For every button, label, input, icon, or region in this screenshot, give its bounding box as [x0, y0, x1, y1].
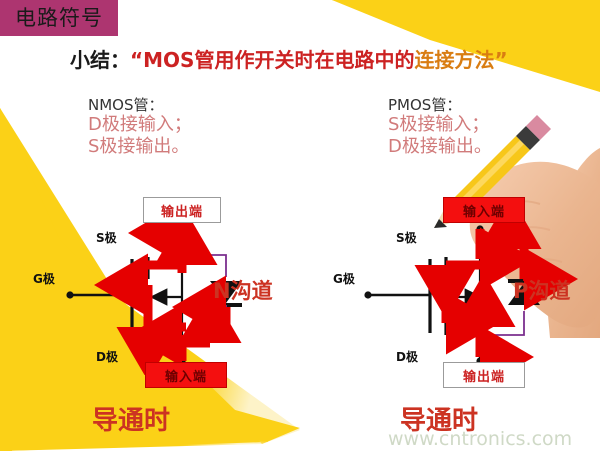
page-title-orange-part: 连接方法	[414, 48, 494, 72]
nmos-source-label: S极	[96, 229, 117, 246]
nmos-input-box: 输入端	[145, 362, 227, 388]
site-watermark: www.cntronics.com	[388, 428, 572, 450]
gate-terminal-dot	[66, 291, 73, 298]
page-title-quote-close: ”	[494, 48, 507, 72]
nmos-description: NMOS管： D极接输入； S极接输出。	[88, 96, 298, 158]
pmos-source-label: S极	[396, 229, 417, 246]
pmos-input-box-label: 输入端	[463, 201, 505, 220]
pmos-output-box-label: 输出端	[463, 366, 505, 385]
pmos-output-box: 输出端	[443, 362, 525, 388]
nmos-description-line1: D极接输入；	[88, 114, 298, 136]
pmos-input-box: 输入端	[443, 197, 525, 223]
page-title-quote-open: “	[130, 48, 143, 72]
nmos-drain-label: D极	[96, 348, 118, 365]
nmos-channel-label: N沟道	[213, 275, 273, 305]
pmos-gate-label: G极	[333, 270, 355, 287]
body-diode-connection	[480, 311, 524, 335]
nmos-description-title: NMOS管：	[88, 96, 298, 114]
pmos-description: PMOS管： S极接输入； D极接输出。	[388, 96, 598, 158]
nmos-gate-label: G极	[33, 270, 55, 287]
pmos-description-line2: D极接输出。	[388, 136, 598, 158]
nmos-caption: 导通时	[92, 400, 170, 437]
nmos-output-box: 输出端	[143, 197, 221, 223]
slide-title-badge-label: 电路符号	[15, 8, 103, 29]
slide-title-badge: 电路符号	[0, 0, 118, 36]
pmos-description-line1: S极接输入；	[388, 114, 598, 136]
nmos-description-line2: S极接输出。	[88, 136, 298, 158]
pmos-drain-label: D极	[396, 348, 418, 365]
body-diode-connection	[182, 255, 226, 277]
slide-canvas: 电路符号 小结：“MOS管用作开关时在电路中的连接方法” NMOS管： D极接输…	[0, 0, 600, 451]
page-title: 小结：“MOS管用作开关时在电路中的连接方法”	[70, 45, 540, 75]
nmos-input-box-label: 输入端	[165, 366, 207, 385]
pmos-description-title: PMOS管：	[388, 96, 598, 114]
page-title-prefix: 小结：	[70, 48, 130, 72]
source-terminal-dot	[178, 225, 185, 232]
nmos-output-box-label: 输出端	[161, 201, 203, 220]
pmos-channel-label: P沟道	[513, 275, 570, 305]
gate-terminal-dot	[364, 291, 371, 298]
page-title-red-part: MOS管用作开关时在电路中的	[143, 48, 414, 72]
